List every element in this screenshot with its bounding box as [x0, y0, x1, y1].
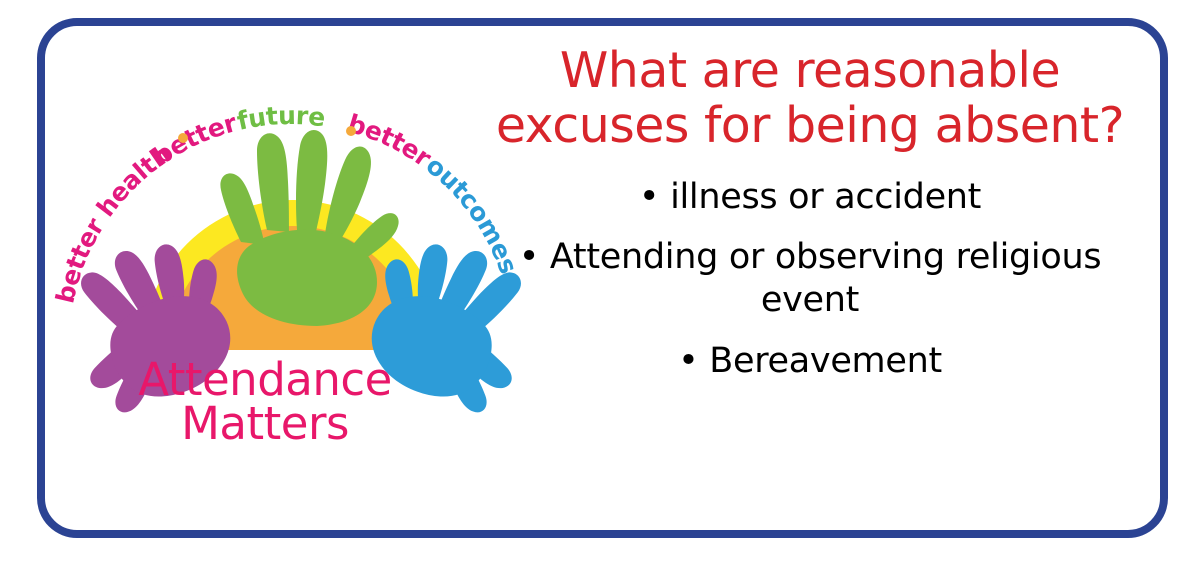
arc-separator-dot-1-icon	[178, 133, 188, 143]
excuses-list: • illness or accident • Attending or obs…	[480, 176, 1140, 383]
slide-canvas: better health better future better outco…	[0, 0, 1200, 566]
wordmark-line-2: Matters	[55, 402, 475, 446]
logo-wordmark: Attendance Matters	[55, 358, 475, 446]
content-column: What are reasonable excuses for being ab…	[480, 44, 1140, 383]
list-item-label: Attending or observing religious event	[550, 237, 1101, 320]
list-item: • illness or accident	[480, 176, 1140, 219]
bullet-icon: •	[519, 237, 539, 277]
page-title-line-2: excuses for being absent?	[480, 99, 1140, 154]
list-item-label: illness or accident	[670, 177, 981, 217]
wordmark-line-1: Attendance	[55, 358, 475, 402]
bullet-icon: •	[639, 177, 659, 217]
page-title-line-1: What are reasonable	[480, 44, 1140, 99]
page-title: What are reasonable excuses for being ab…	[480, 44, 1140, 154]
list-item-label: Bereavement	[709, 341, 942, 381]
bullet-icon: •	[678, 341, 698, 381]
list-item: • Attending or observing religious event	[480, 236, 1140, 321]
attendance-matters-logo: better health better future better outco…	[55, 96, 525, 466]
list-item: • Bereavement	[480, 340, 1140, 383]
